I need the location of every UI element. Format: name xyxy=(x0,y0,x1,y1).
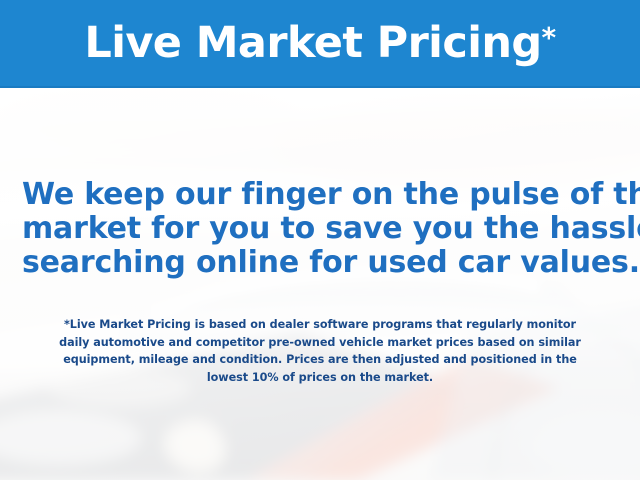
page-title: Live Market Pricing* xyxy=(84,22,555,65)
fine-print-line-3: equipment, mileage and condition. Prices… xyxy=(28,351,612,369)
fine-print-line-2: daily automotive and competitor pre-owne… xyxy=(28,334,612,352)
headline-line-2: market for you to save you the hassle of xyxy=(22,212,618,246)
live-market-pricing-banner: Live Market Pricing* xyxy=(0,0,640,480)
headline-line-1: We keep our finger on the pulse of the xyxy=(22,178,618,212)
content-layer: We keep our finger on the pulse of the m… xyxy=(0,88,640,480)
fine-print-disclaimer: *Live Market Pricing is based on dealer … xyxy=(28,316,612,386)
asterisk-footnote-marker: * xyxy=(542,21,556,54)
headline-line-3: searching online for used car values. xyxy=(22,246,618,280)
page-title-text: Live Market Pricing xyxy=(84,18,541,68)
fine-print-line-4: lowest 10% of prices on the market. xyxy=(28,369,612,387)
fine-print-line-1: *Live Market Pricing is based on dealer … xyxy=(28,316,612,334)
headline: We keep our finger on the pulse of the m… xyxy=(22,178,618,280)
header-band: Live Market Pricing* xyxy=(0,0,640,88)
